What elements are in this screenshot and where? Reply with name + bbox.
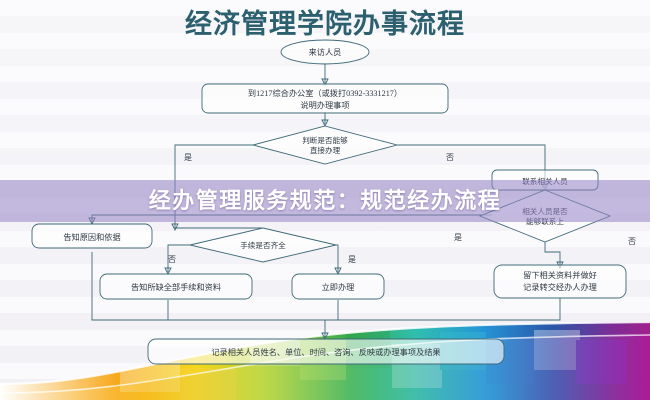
node-start-label: 来访人员 xyxy=(309,47,342,57)
page-title: 经济管理学院办事流程 xyxy=(0,2,650,41)
node-record: 记录相关人员姓名、单位、时间、咨询、反映或办理事项及结果 xyxy=(148,339,504,364)
edge-label-docs-no: 否 xyxy=(168,255,176,264)
node-inform-missing-label: 告知所缺全部手续和资料 xyxy=(131,282,221,292)
caption-overlay-text: 经办管理服务规范：规范经办流程 xyxy=(0,184,650,220)
node-leave-materials-line2: 记录转交经办人办理 xyxy=(523,282,597,292)
node-decision-direct-line1: 判断是否能够 xyxy=(302,135,348,145)
node-leave-materials-line1: 留下相关资料并做好 xyxy=(523,270,597,280)
node-decision-direct-line2: 直接办理 xyxy=(310,145,341,155)
node-leave-materials: 留下相关资料并做好 记录转交经办人办理 xyxy=(494,265,626,298)
node-start: 来访人员 xyxy=(281,40,369,64)
node-office-label-line2: 说明办理事项 xyxy=(300,100,349,110)
node-office-label-line1: 到1217综合办公室（或拨打0392-3331217） xyxy=(248,88,402,98)
node-handle-now-label: 立即办理 xyxy=(322,282,355,292)
screenshot-canvas: 来访人员 到1217综合办公室（或拨打0392-3331217） 说明办理事项 … xyxy=(0,0,650,400)
node-office: 到1217综合办公室（或拨打0392-3331217） 说明办理事项 xyxy=(202,84,448,113)
edge-label-contact-no: 否 xyxy=(628,237,636,246)
edge-label-direct-yes: 是 xyxy=(184,153,192,162)
node-inform-missing: 告知所缺全部手续和资料 xyxy=(100,274,252,299)
edge-label-direct-no: 否 xyxy=(446,153,454,162)
node-decision-docs-label: 手续是否齐全 xyxy=(240,240,286,250)
node-record-label: 记录相关人员姓名、单位、时间、咨询、反映或办理事项及结果 xyxy=(211,347,440,357)
node-handle-now: 立即办理 xyxy=(292,274,384,299)
edge-label-contact-yes: 是 xyxy=(454,233,462,242)
node-inform-reason-label: 告知原因和依据 xyxy=(63,232,120,242)
node-decision-direct: 判断是否能够 直接办理 xyxy=(253,126,397,164)
edge-label-docs-yes: 是 xyxy=(348,255,356,264)
node-inform-reason: 告知原因和依据 xyxy=(32,224,152,248)
node-decision-docs: 手续是否齐全 xyxy=(190,228,336,262)
